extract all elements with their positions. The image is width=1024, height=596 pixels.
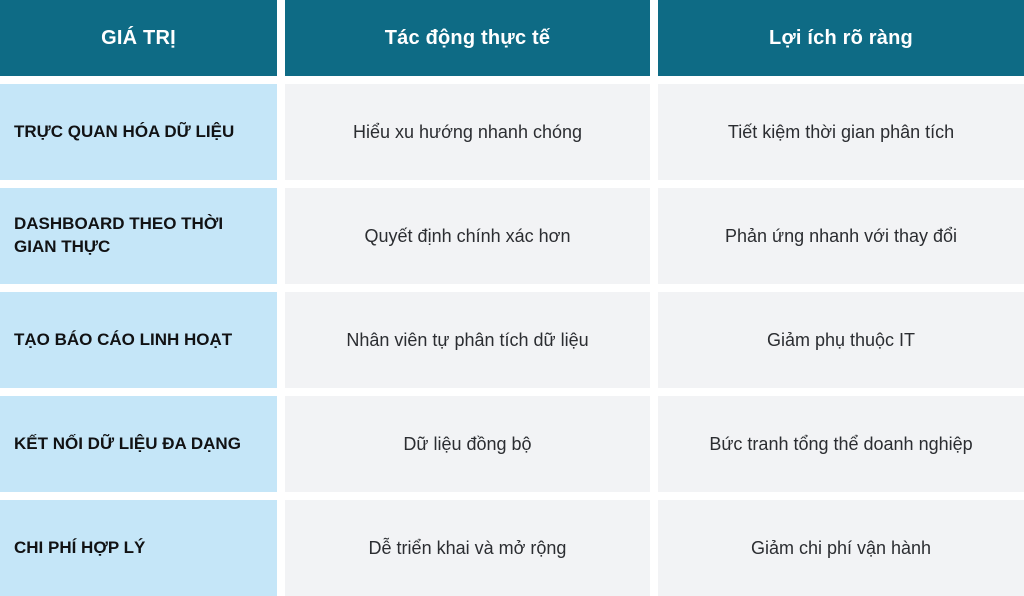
table-cell-text: Quyết định chính xác hơn (365, 224, 571, 248)
table-row: TRỰC QUAN HÓA DỮ LIỆU Hiểu xu hướng nhan… (0, 84, 1024, 180)
table-cell-text: DASHBOARD THEO THỜI GIAN THỰC (14, 213, 263, 259)
table-header-cell-impact: Tác động thực tế (285, 0, 650, 76)
table-cell-benefit: Phản ứng nhanh với thay đổi (658, 188, 1024, 284)
table-cell-benefit: Giảm phụ thuộc IT (658, 292, 1024, 388)
table-cell-text: Dễ triển khai và mở rộng (369, 536, 567, 560)
table-cell-text: TRỰC QUAN HÓA DỮ LIỆU (14, 121, 234, 144)
table-cell-value: TẠO BÁO CÁO LINH HOẠT (0, 292, 277, 388)
table-cell-benefit: Giảm chi phí vận hành (658, 500, 1024, 596)
comparison-table: GIÁ TRỊ Tác động thực tế Lợi ích rõ ràng… (0, 0, 1024, 576)
table-cell-benefit: Bức tranh tổng thể doanh nghiệp (658, 396, 1024, 492)
table-cell-impact: Quyết định chính xác hơn (285, 188, 650, 284)
table-row: DASHBOARD THEO THỜI GIAN THỰC Quyết định… (0, 188, 1024, 284)
table-cell-impact: Nhân viên tự phân tích dữ liệu (285, 292, 650, 388)
table-cell-text: Giảm chi phí vận hành (751, 536, 931, 560)
table-header-label: Lợi ích rõ ràng (769, 26, 913, 50)
table-cell-value: CHI PHÍ HỢP LÝ (0, 500, 277, 596)
table-cell-text: Hiểu xu hướng nhanh chóng (353, 120, 582, 144)
table-cell-text: KẾT NỐI DỮ LIỆU ĐA DẠNG (14, 433, 241, 456)
table-cell-value: DASHBOARD THEO THỜI GIAN THỰC (0, 188, 277, 284)
table-cell-text: TẠO BÁO CÁO LINH HOẠT (14, 329, 232, 352)
table-header-label: GIÁ TRỊ (101, 26, 176, 50)
table-row: KẾT NỐI DỮ LIỆU ĐA DẠNG Dữ liệu đồng bộ … (0, 396, 1024, 492)
table-header-label: Tác động thực tế (385, 26, 550, 50)
table-cell-text: Tiết kiệm thời gian phân tích (728, 120, 954, 144)
table-cell-text: Giảm phụ thuộc IT (767, 328, 915, 352)
table-cell-text: Dữ liệu đồng bộ (403, 432, 531, 456)
table-cell-text: Nhân viên tự phân tích dữ liệu (346, 328, 588, 352)
table-header-cell-benefit: Lợi ích rõ ràng (658, 0, 1024, 76)
table-header-cell-value: GIÁ TRỊ (0, 0, 277, 76)
table-cell-impact: Dễ triển khai và mở rộng (285, 500, 650, 596)
table-cell-impact: Hiểu xu hướng nhanh chóng (285, 84, 650, 180)
table-cell-benefit: Tiết kiệm thời gian phân tích (658, 84, 1024, 180)
table-cell-text: CHI PHÍ HỢP LÝ (14, 537, 145, 560)
table-row: CHI PHÍ HỢP LÝ Dễ triển khai và mở rộng … (0, 500, 1024, 596)
table-cell-value: TRỰC QUAN HÓA DỮ LIỆU (0, 84, 277, 180)
table-cell-text: Bức tranh tổng thể doanh nghiệp (709, 432, 972, 456)
table-cell-impact: Dữ liệu đồng bộ (285, 396, 650, 492)
table-body: TRỰC QUAN HÓA DỮ LIỆU Hiểu xu hướng nhan… (0, 76, 1024, 596)
table-header-row: GIÁ TRỊ Tác động thực tế Lợi ích rõ ràng (0, 0, 1024, 76)
table-cell-text: Phản ứng nhanh với thay đổi (725, 224, 957, 248)
table-cell-value: KẾT NỐI DỮ LIỆU ĐA DẠNG (0, 396, 277, 492)
table-row: TẠO BÁO CÁO LINH HOẠT Nhân viên tự phân … (0, 292, 1024, 388)
